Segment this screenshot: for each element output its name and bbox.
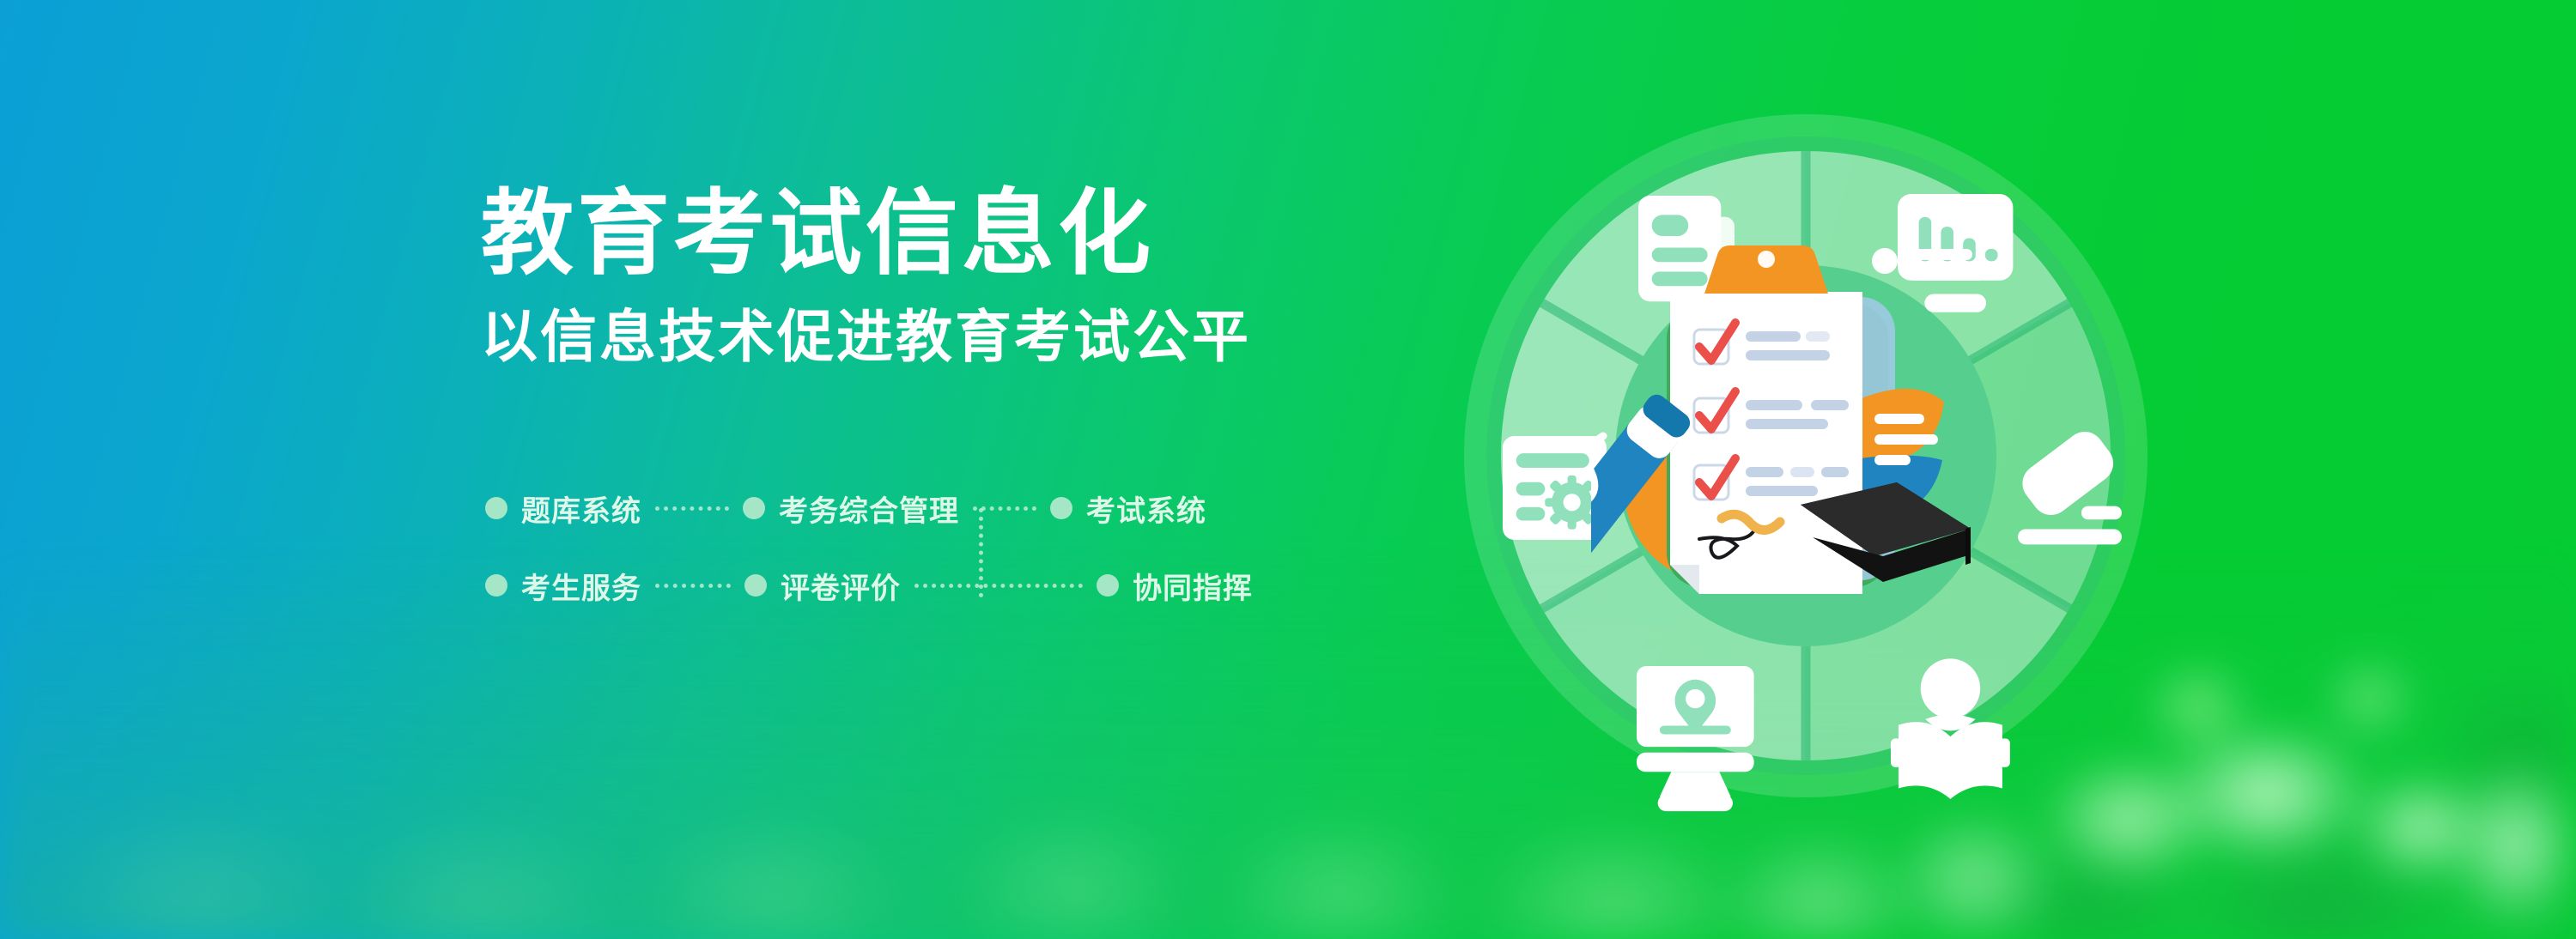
feature-label: 考生服务 xyxy=(521,565,641,607)
hero-banner: 教育考试信息化 以信息技术促进教育考试公平 题库系统 考务综合管理 考试系统 xyxy=(0,0,2576,939)
dotted-connector xyxy=(914,584,1083,588)
feature-label: 考务综合管理 xyxy=(779,488,959,530)
feature-item-candidate-service[interactable]: 考生服务 xyxy=(485,565,641,607)
dotted-connector xyxy=(655,584,731,588)
exam-information-wheel-illustration xyxy=(1417,67,2195,845)
page-title: 教育考试信息化 xyxy=(481,182,1251,286)
page-subtitle: 以信息技术促进教育考试公平 xyxy=(481,305,1251,370)
feature-list: 题库系统 考务综合管理 考试系统 考生服务 评卷评价 xyxy=(485,486,1172,608)
bullet-dot-icon xyxy=(485,497,507,519)
dotted-connector xyxy=(655,506,729,511)
feature-item-exam-system[interactable]: 考试系统 xyxy=(1050,488,1206,530)
feature-item-exam-admin[interactable]: 考务综合管理 xyxy=(743,488,959,530)
vertical-dotted-connector xyxy=(979,508,983,597)
bullet-dot-icon xyxy=(1050,497,1072,519)
feature-label: 协同指挥 xyxy=(1133,565,1253,607)
feature-item-grading[interactable]: 评卷评价 xyxy=(744,565,901,607)
feature-label: 考试系统 xyxy=(1086,488,1206,530)
center-illustration xyxy=(1591,230,2020,659)
white-dot-lines xyxy=(1872,248,1984,281)
bullet-dot-icon xyxy=(743,497,765,519)
bullet-dot-icon xyxy=(744,574,767,597)
clipboard-checklist-scene xyxy=(1591,230,2020,659)
feature-item-question-bank[interactable]: 题库系统 xyxy=(485,488,641,530)
feature-item-coordination[interactable]: 协同指挥 xyxy=(1097,565,1253,607)
bullet-dot-icon xyxy=(485,574,507,597)
feature-label: 题库系统 xyxy=(521,488,641,530)
feature-row-1: 题库系统 考务综合管理 考试系统 xyxy=(485,486,1172,530)
feature-row-2: 考生服务 评卷评价 协同指挥 xyxy=(485,563,1172,608)
feature-label: 评卷评价 xyxy=(781,565,901,607)
paper-fold xyxy=(1670,565,1699,594)
clip-hole xyxy=(1758,251,1775,268)
bullet-dot-icon xyxy=(1097,574,1119,597)
hero-text-block: 教育考试信息化 以信息技术促进教育考试公平 xyxy=(481,182,1251,370)
